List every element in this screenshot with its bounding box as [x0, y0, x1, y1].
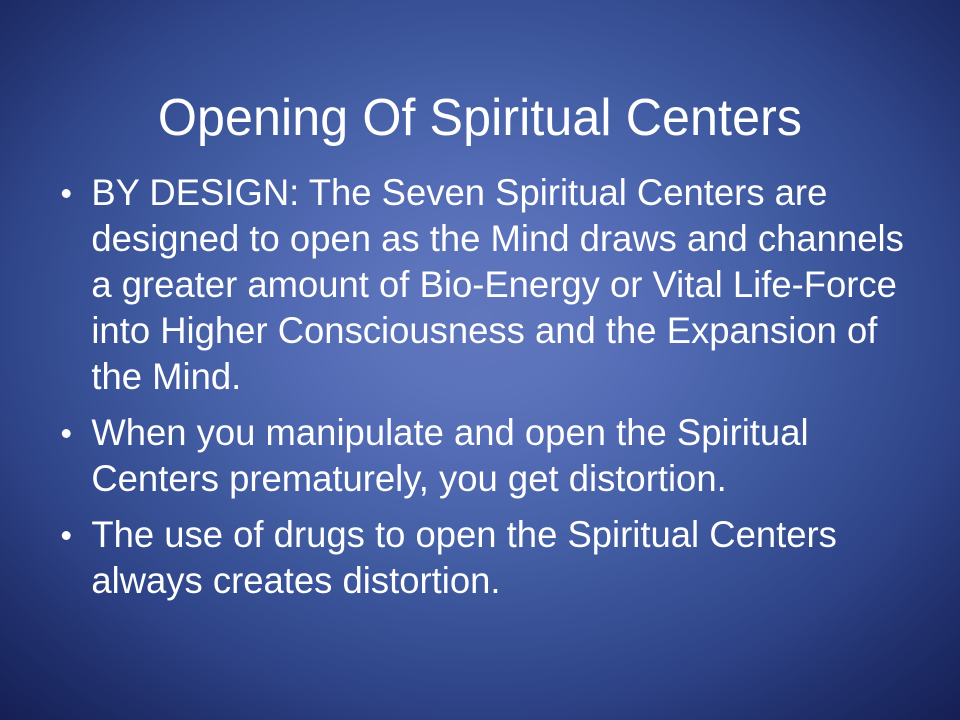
- page-title: Opening Of Spiritual Centers: [17, 87, 943, 149]
- bullet-dot-icon: [62, 429, 71, 438]
- bullet-text: The use of drugs to open the Spiritual C…: [91, 512, 907, 604]
- slide-bullet-list: BY DESIGN: The Seven Spiritual Centers a…: [48, 170, 920, 604]
- list-item: BY DESIGN: The Seven Spiritual Centers a…: [48, 170, 907, 400]
- bullet-text: BY DESIGN: The Seven Spiritual Centers a…: [91, 170, 907, 400]
- presentation-slide: Opening Of Spiritual Centers BY DESIGN: …: [0, 0, 960, 720]
- list-item: The use of drugs to open the Spiritual C…: [48, 512, 907, 604]
- bullet-dot-icon: [62, 189, 71, 198]
- list-item: When you manipulate and open the Spiritu…: [48, 410, 907, 502]
- bullet-text: When you manipulate and open the Spiritu…: [91, 410, 907, 502]
- bullet-dot-icon: [62, 531, 71, 540]
